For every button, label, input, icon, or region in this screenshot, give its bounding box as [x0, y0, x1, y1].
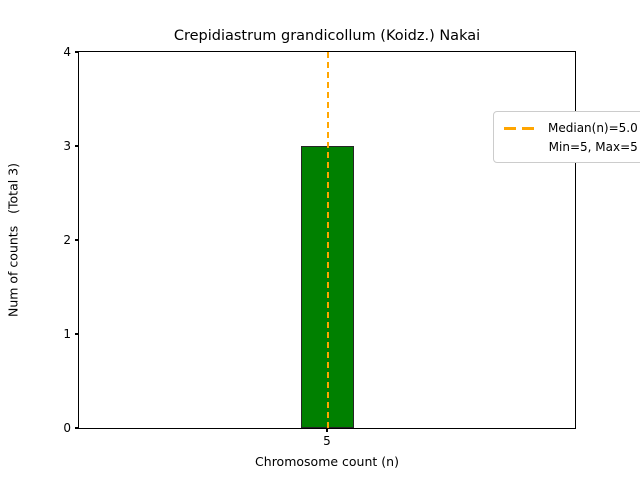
chart-figure: Crepidiastrum grandicollum (Koidz.) Naka…: [0, 0, 640, 480]
dashed-line-icon: [503, 121, 539, 135]
y-tick-mark: [75, 239, 79, 240]
y-axis-label-container: Num of counts (Total 3): [0, 51, 26, 429]
y-tick-label: 4: [63, 44, 71, 60]
chart-title: Crepidiastrum grandicollum (Koidz.) Naka…: [78, 28, 576, 44]
plot-area: [79, 52, 575, 428]
y-tick-label: 3: [63, 138, 71, 154]
legend-label-median: Median(n)=5.0: [548, 121, 638, 135]
y-tick-label: 2: [63, 232, 71, 248]
legend-item-minmax: Min=5, Max=5: [503, 137, 638, 156]
y-tick-label: 0: [63, 420, 71, 436]
median-line: [327, 52, 329, 428]
y-tick-label: 1: [63, 326, 71, 342]
y-axis-label: Num of counts (Total 3): [6, 163, 21, 317]
x-tick-label: 5: [297, 434, 357, 448]
y-tick-mark: [75, 51, 79, 52]
y-tick-mark: [75, 427, 79, 428]
legend-item-median: Median(n)=5.0: [503, 118, 638, 137]
plot-axes: Median(n)=5.0 Min=5, Max=5 012345: [78, 51, 576, 429]
x-axis-label: Chromosome count (n): [78, 454, 576, 469]
y-tick-mark: [75, 145, 79, 146]
x-tick-mark: [326, 428, 327, 432]
legend-label-minmax: Min=5, Max=5: [549, 140, 638, 154]
chart-legend: Median(n)=5.0 Min=5, Max=5: [493, 111, 640, 163]
y-tick-mark: [75, 333, 79, 334]
